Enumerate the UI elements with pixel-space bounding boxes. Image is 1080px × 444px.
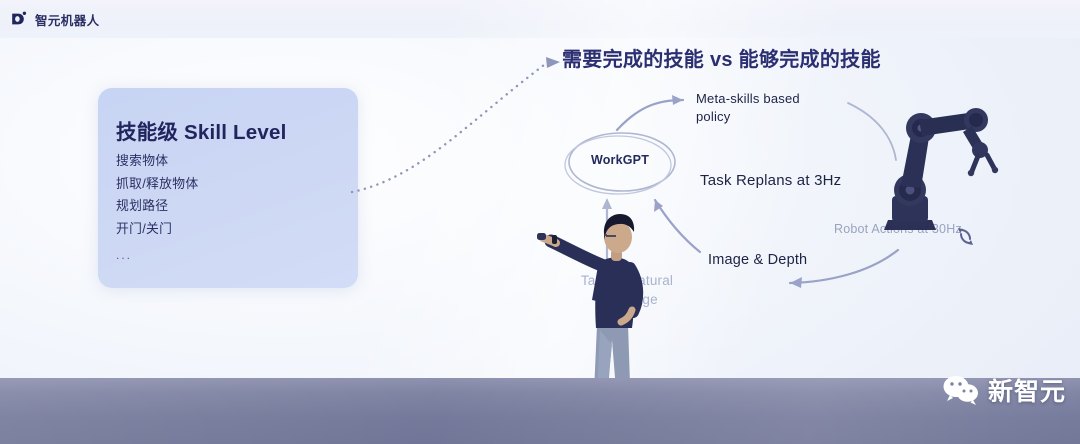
- watermark-text: 新智元: [988, 372, 1066, 408]
- list-item: 开门/关门: [116, 218, 336, 241]
- screenshot-root: 智元机器人 技能级 Skill Level 搜索物体 抓取/释放物体 规划路径 …: [0, 0, 1080, 444]
- diagram-label-image-depth: Image & Depth: [708, 251, 818, 270]
- wall-header-band: [0, 0, 1080, 38]
- brand-name: 智元机器人: [35, 10, 100, 29]
- watermark: 新智元: [942, 372, 1066, 408]
- skill-level-card: 技能级 Skill Level 搜索物体 抓取/释放物体 规划路径 开门/关门 …: [98, 88, 358, 288]
- diagram-label-robot-actions: Robot Actions at 30Hz: [834, 221, 962, 238]
- diagram-label-meta-skills: Meta-skills based policy: [696, 90, 836, 126]
- slide-headline: 需要完成的技能 vs 能够完成的技能: [562, 43, 881, 72]
- list-item: 规划路径: [116, 195, 336, 218]
- skill-card-list: 搜索物体 抓取/释放物体 规划路径 开门/关门 ...: [116, 150, 336, 267]
- brand-logo: 智元机器人: [9, 9, 100, 29]
- zhiyuan-d-logo-icon: [9, 9, 29, 29]
- diagram-label-task-natural-language: Task in Natural Language: [562, 271, 692, 309]
- diagram-label-task-replans: Task Replans at 3Hz: [700, 172, 841, 189]
- skill-card-title: 技能级 Skill Level: [116, 115, 286, 145]
- list-item: 搜索物体: [116, 150, 336, 173]
- stage-floor: [0, 378, 1080, 444]
- list-item-ellipsis: ...: [116, 240, 336, 267]
- diagram-node-workgpt-label: WorkGPT: [573, 153, 667, 167]
- wechat-icon: [942, 375, 980, 405]
- list-item: 抓取/释放物体: [116, 173, 336, 196]
